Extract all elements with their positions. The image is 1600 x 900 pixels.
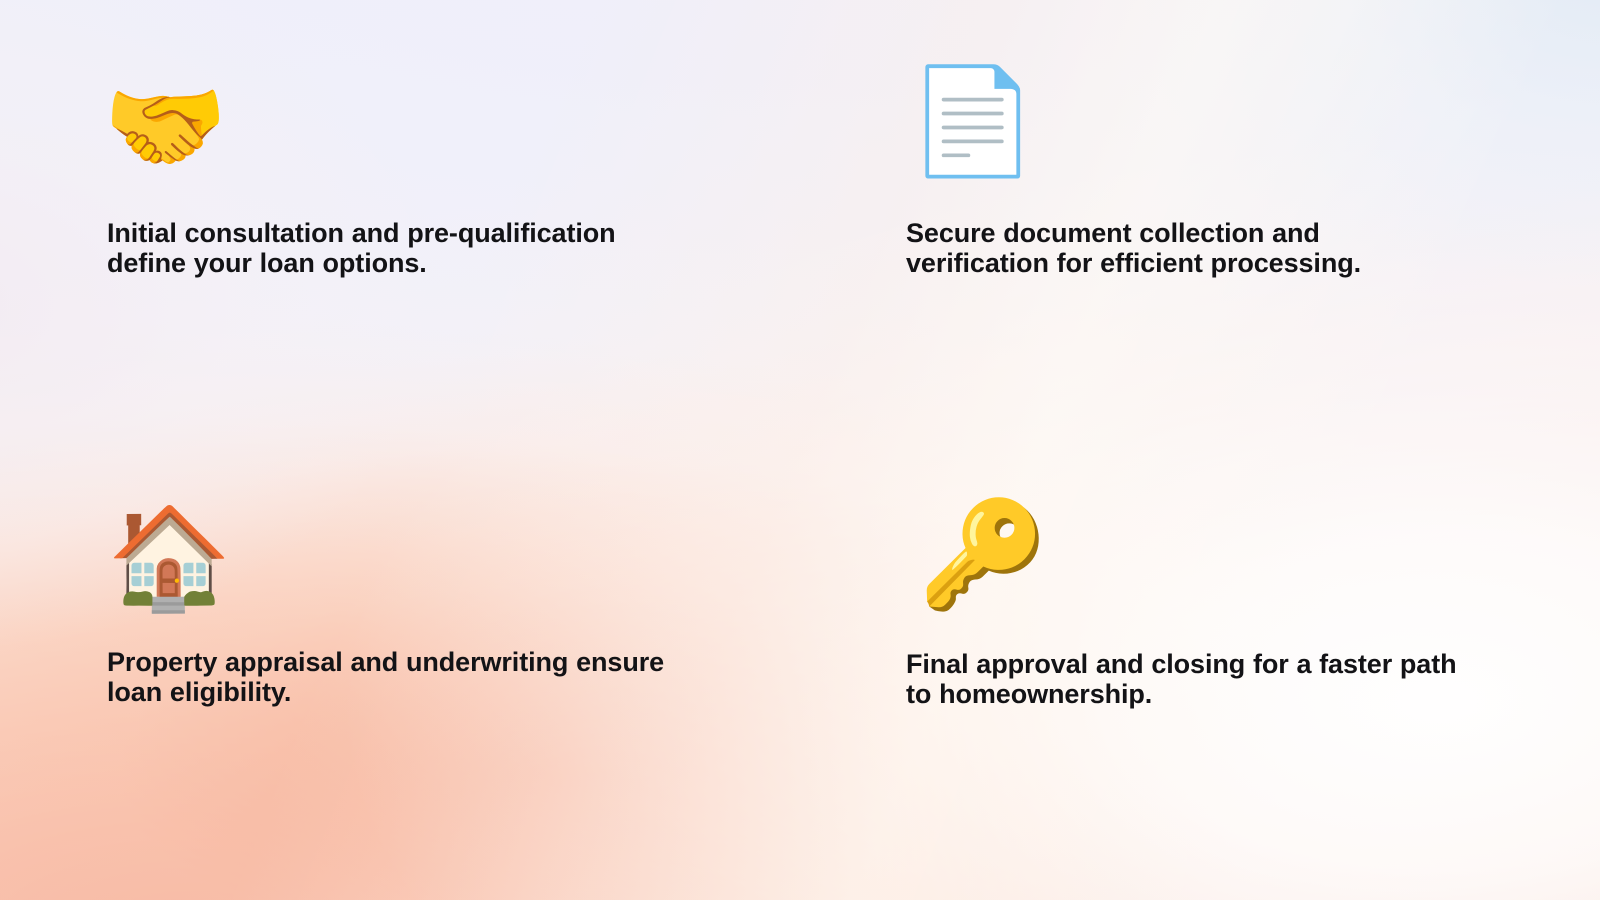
step-card-3: 🏠 Property appraisal and underwriting en… bbox=[107, 493, 727, 707]
key-icon: 🔑 bbox=[918, 499, 1526, 611]
step-caption-1: Initial consultation and pre-qualificati… bbox=[107, 218, 667, 278]
step-caption-2: Secure document collection and verificat… bbox=[906, 218, 1466, 278]
step-card-4: 🔑 Final approval and closing for a faste… bbox=[906, 493, 1526, 709]
document-icon: 📄 bbox=[908, 66, 1526, 178]
steps-grid: 🤝 Initial consultation and pre-qualifica… bbox=[0, 0, 1600, 900]
step-caption-4: Final approval and closing for a faster … bbox=[906, 649, 1466, 709]
handshake-icon: 🤝 bbox=[103, 72, 727, 184]
house-icon: 🏠 bbox=[107, 503, 727, 615]
step-card-1: 🤝 Initial consultation and pre-qualifica… bbox=[107, 72, 727, 278]
step-card-2: 📄 Secure document collection and verific… bbox=[906, 72, 1526, 278]
step-caption-3: Property appraisal and underwriting ensu… bbox=[107, 647, 667, 707]
